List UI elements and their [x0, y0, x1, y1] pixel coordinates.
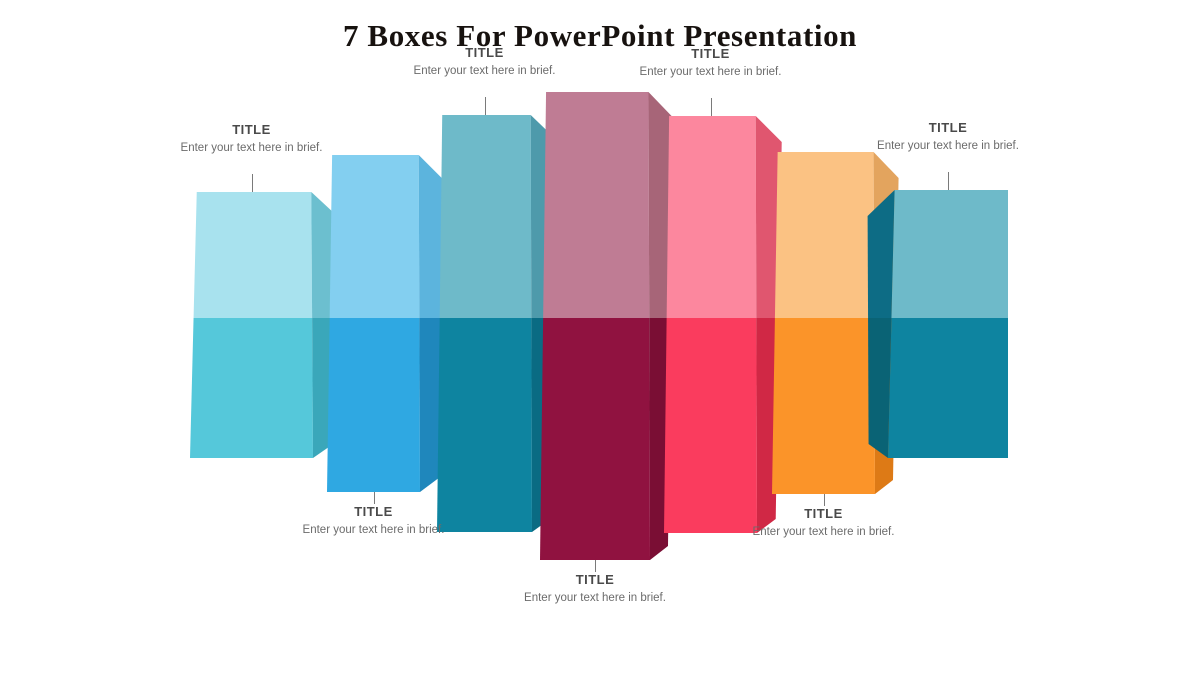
callout-title-7: TITLE [858, 120, 1038, 136]
leader-line-5 [711, 98, 712, 116]
callout-title-1: TITLE [162, 122, 342, 138]
leader-line-2 [374, 492, 375, 504]
callout-body-6: Enter your text here in brief. [734, 525, 914, 539]
callout-body-3: Enter your text here in brief. [395, 64, 575, 78]
callout-title-2: TITLE [284, 504, 464, 520]
box-6-front-top[interactable] [775, 152, 874, 318]
box-5-front-bottom[interactable] [664, 318, 757, 533]
box-5-front-top[interactable] [667, 116, 757, 318]
leader-line-7 [948, 172, 949, 190]
box-1-front-top[interactable] [194, 192, 313, 318]
callout-box-5[interactable]: TITLEEnter your text here in brief. [621, 46, 801, 79]
callout-body-2: Enter your text here in brief. [284, 523, 464, 537]
callout-box-3[interactable]: TITLEEnter your text here in brief. [395, 45, 575, 78]
callout-box-6[interactable]: TITLEEnter your text here in brief. [734, 506, 914, 539]
callout-body-1: Enter your text here in brief. [162, 141, 342, 155]
leader-line-1 [252, 174, 253, 192]
slide-canvas: 7 Boxes For PowerPoint Presentation TITL… [0, 0, 1200, 675]
box-7-side-bottom[interactable] [868, 318, 891, 458]
callout-box-4[interactable]: TITLEEnter your text here in brief. [505, 572, 685, 605]
callout-body-4: Enter your text here in brief. [505, 591, 685, 605]
box-2-front-top[interactable] [330, 155, 420, 318]
box-4-front-top[interactable] [543, 92, 649, 318]
box-2-front-bottom[interactable] [327, 318, 420, 492]
callout-title-4: TITLE [505, 572, 685, 588]
callout-title-3: TITLE [395, 45, 575, 61]
callout-body-7: Enter your text here in brief. [858, 139, 1038, 153]
box-7-front-bottom[interactable] [888, 318, 1008, 458]
leader-line-4 [595, 560, 596, 572]
callout-box-2[interactable]: TITLEEnter your text here in brief. [284, 504, 464, 537]
callout-title-5: TITLE [621, 46, 801, 62]
box-3-front-top[interactable] [440, 115, 532, 318]
leader-line-6 [824, 494, 825, 506]
box-4-front-bottom[interactable] [540, 318, 650, 560]
box-6-front-bottom[interactable] [772, 318, 875, 494]
callout-box-1[interactable]: TITLEEnter your text here in brief. [162, 122, 342, 155]
box-3-front-bottom[interactable] [437, 318, 532, 532]
callout-title-6: TITLE [734, 506, 914, 522]
callout-box-7[interactable]: TITLEEnter your text here in brief. [858, 120, 1038, 153]
callout-body-5: Enter your text here in brief. [621, 65, 801, 79]
leader-line-3 [485, 97, 486, 115]
box-1-front-bottom[interactable] [190, 318, 313, 458]
box-7-front-top[interactable] [891, 190, 1008, 318]
